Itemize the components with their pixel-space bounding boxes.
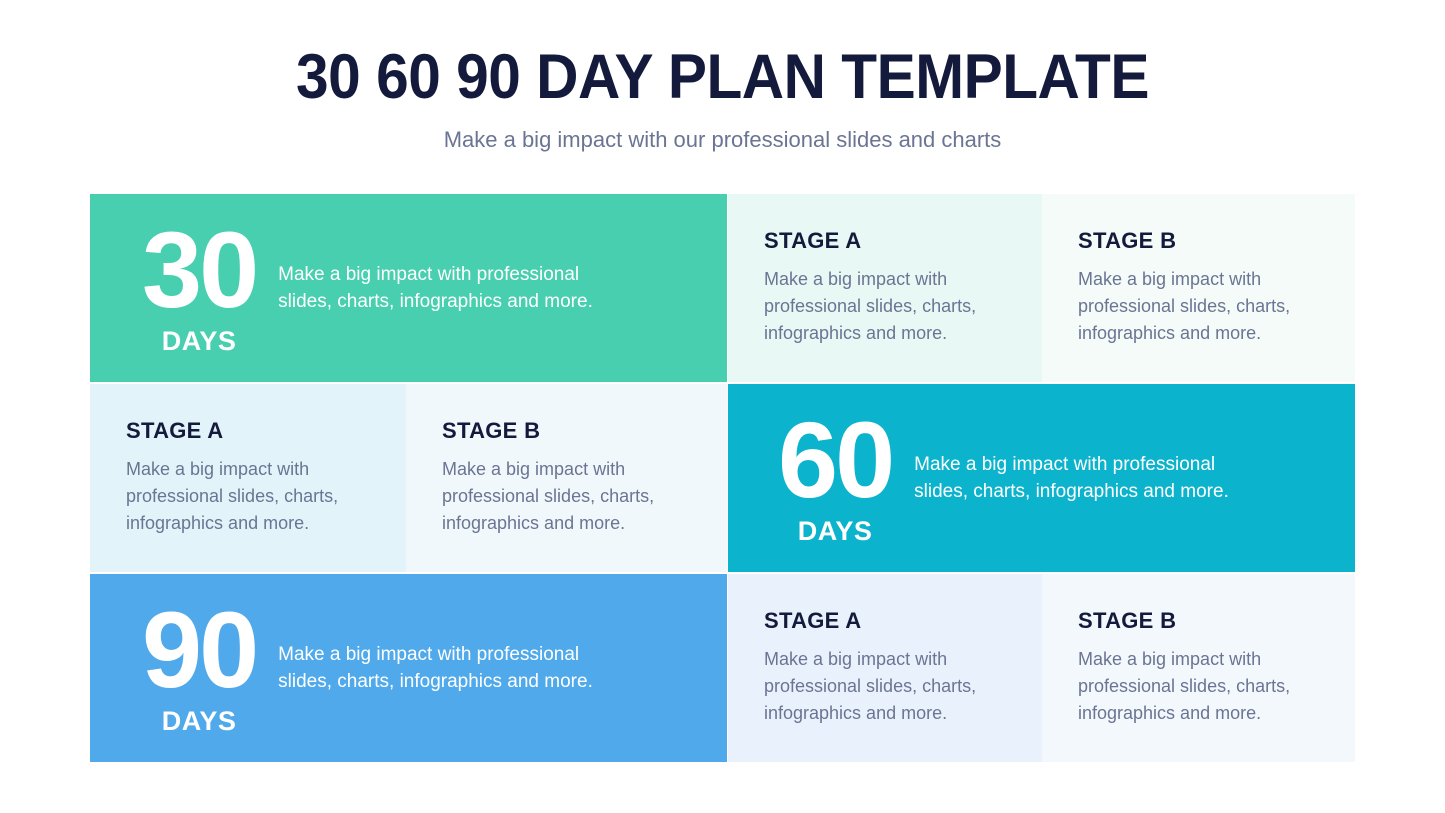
milestone-description-60: Make a big impact with professional slid… xyxy=(914,451,1259,505)
milestone-number-block-60: 60 DAYS xyxy=(778,410,892,546)
stage-description-30-a: Make a big impact with professional slid… xyxy=(764,266,1004,347)
stage-description-60-a: Make a big impact with professional slid… xyxy=(126,456,366,537)
stage-title-30-b: STAGE B xyxy=(1078,228,1321,254)
stage-title-60-a: STAGE A xyxy=(126,418,372,444)
plan-row-30: 30 DAYS Make a big impact with professio… xyxy=(90,194,1355,382)
milestone-number-block-30: 30 DAYS xyxy=(142,220,256,356)
stage-cell-90-b[interactable]: STAGE B Make a big impact with professio… xyxy=(1042,574,1355,762)
plan-grid: 30 DAYS Make a big impact with professio… xyxy=(90,194,1355,766)
milestone-description-30: Make a big impact with professional slid… xyxy=(278,261,618,315)
stage-cell-60-a[interactable]: STAGE A Make a big impact with professio… xyxy=(90,384,406,572)
page-title: 30 60 90 DAY PLAN TEMPLATE xyxy=(51,40,1395,114)
milestone-panel-30[interactable]: 30 DAYS Make a big impact with professio… xyxy=(90,194,727,382)
stage-cell-30-a[interactable]: STAGE A Make a big impact with professio… xyxy=(728,194,1042,382)
stage-title-90-b: STAGE B xyxy=(1078,608,1321,634)
stage-cell-30-b[interactable]: STAGE B Make a big impact with professio… xyxy=(1042,194,1355,382)
stage-cell-90-a[interactable]: STAGE A Make a big impact with professio… xyxy=(728,574,1042,762)
milestone-number-90: 90 xyxy=(142,600,256,700)
stage-description-90-a: Make a big impact with professional slid… xyxy=(764,646,1004,727)
milestone-unit-90: DAYS xyxy=(142,706,256,736)
milestone-panel-60[interactable]: 60 DAYS Make a big impact with professio… xyxy=(728,384,1355,572)
stage-title-60-b: STAGE B xyxy=(442,418,693,444)
stage-title-90-a: STAGE A xyxy=(764,608,1008,634)
stage-description-60-b: Make a big impact with professional slid… xyxy=(442,456,682,537)
plan-row-60: STAGE A Make a big impact with professio… xyxy=(90,384,1355,572)
plan-row-90: 90 DAYS Make a big impact with professio… xyxy=(90,574,1355,762)
stage-description-30-b: Make a big impact with professional slid… xyxy=(1078,266,1318,347)
page-subtitle: Make a big impact with our professional … xyxy=(0,125,1445,155)
header: 30 60 90 DAY PLAN TEMPLATE Make a big im… xyxy=(0,40,1445,155)
milestone-number-block-90: 90 DAYS xyxy=(142,600,256,736)
milestone-description-90: Make a big impact with professional slid… xyxy=(278,641,618,695)
milestone-number-60: 60 xyxy=(778,410,892,510)
milestone-number-30: 30 xyxy=(142,220,256,320)
milestone-unit-30: DAYS xyxy=(142,326,256,356)
milestone-panel-90[interactable]: 90 DAYS Make a big impact with professio… xyxy=(90,574,727,762)
stage-cell-60-b[interactable]: STAGE B Make a big impact with professio… xyxy=(406,384,727,572)
milestone-unit-60: DAYS xyxy=(778,516,892,546)
stage-title-30-a: STAGE A xyxy=(764,228,1008,254)
slide-canvas: 30 60 90 DAY PLAN TEMPLATE Make a big im… xyxy=(0,0,1445,813)
stage-description-90-b: Make a big impact with professional slid… xyxy=(1078,646,1318,727)
